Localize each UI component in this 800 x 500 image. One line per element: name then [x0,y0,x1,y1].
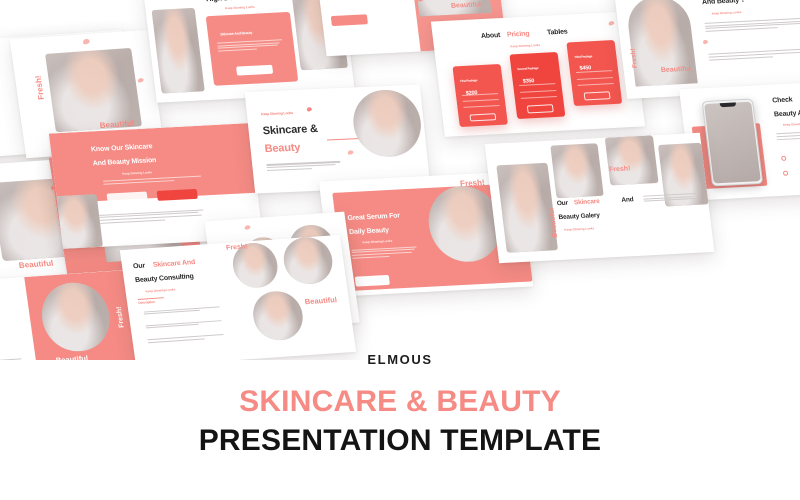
read-more-button[interactable] [331,15,368,27]
slide-subtitle: Keep Glowing Looks [783,122,800,128]
slide-subtitle: Keep Glowing Looks [145,288,175,294]
read-more-button[interactable] [355,275,390,286]
description-label: Description [138,301,155,306]
pricing-card-second[interactable] [509,52,565,119]
title-line-accent: SKINCARE & BEAUTY [0,385,800,419]
slide-title-accent: Skincare [574,198,600,206]
word-beautiful: Beautiful [550,209,560,237]
body-copy [705,18,800,34]
gallery-photo-2 [550,143,604,198]
word-beautiful: Beautiful [18,260,49,270]
bullet-copy-2 [146,320,226,331]
pricing-price-first: $200 [466,91,478,97]
body-copy [266,161,344,172]
slide-title: About [481,32,501,40]
go-research-button-left[interactable] [107,191,148,203]
title-line-main: PRESENTATION TEMPLATE [0,424,800,458]
word-beautiful: Beautiful [451,2,476,10]
slide-title: Our [556,200,568,208]
slide-title: High Dose [205,0,241,3]
consulting-photo-3 [250,290,305,342]
body-copy-second [708,49,800,62]
gallery-photo-3 [605,135,658,185]
slide-beauty-consulting[interactable]: Our Skincare And Beauty Consulting Keep … [120,235,356,360]
slide-subtitle: Keep Glowing Looks [712,10,742,16]
word-fresh: Fresh! [34,75,46,100]
slide-title-second-line: Beauty [264,143,301,156]
bullet-copy-1 [144,306,224,317]
slide-title-second-line: Beauty Consulting [135,273,194,285]
slide-title-second-line: And Beauty ? [702,0,746,7]
bullet-icon-1 [781,155,787,160]
brand-name: ELMOUS [0,352,800,367]
phone-mockup [702,99,764,186]
word-fresh: Fresh! [460,178,486,188]
presentation-mockup-canvas: Hydrating Essence Keep Glowing Looks Fre… [0,0,800,500]
slide-subtitle: Keep Glowing Looks [564,226,594,232]
slide-eyebrow: Keep Glowing Looks [261,112,293,117]
slide-title-accent: Skincare And [153,259,196,269]
slide-title: Check [772,97,793,106]
slide-beauty-gallery[interactable]: Our Skincare And Beauty Galery Keep Glow… [485,133,715,263]
slide-title: Skincare & [262,124,318,138]
slide-title-accent: Serum [249,0,272,1]
slide-title-second-line: Beauty App [774,109,800,118]
slide-title-tail: Tables [547,28,568,37]
go-research-button-right[interactable] [157,188,198,200]
pricing-card-third[interactable] [566,40,622,106]
slide-title: Our [133,263,146,271]
slide-collage: Hydrating Essence Keep Glowing Looks Fre… [0,0,800,360]
slide-subtitle: Keep Glowing Looks [510,43,540,49]
slide-subtitle: Keep Glowing Looks [225,4,255,10]
pricing-card-first[interactable] [452,64,507,126]
slide-title-second-line: Beauty Galery [558,212,600,221]
word-beautiful: Beautiful [661,67,686,75]
consulting-photo-2 [280,236,335,286]
serum-photo-left [151,7,205,93]
model-photo [350,89,424,159]
word-beautiful: Beautiful [304,297,331,306]
word-beautiful: Beautiful [99,120,130,130]
bullet-icon-2 [783,171,789,176]
slide-title-accent: Pricing [507,30,530,39]
word-beautiful: Beautiful [462,263,491,272]
body-copy [776,129,800,141]
pricing-price-second: $350 [523,79,535,85]
branding-block: ELMOUS SKINCARE & BEAUTY PRESENTATION TE… [0,352,800,458]
slide-about-pricing-tables[interactable]: About Pricing Tables Keep Glowing Looks [431,11,645,137]
pricing-price-third: $450 [579,67,591,73]
footer-copy [99,209,208,225]
portrait-photo [37,280,113,353]
bullet-copy-3 [148,334,228,345]
word-fresh: Fresh! [226,244,248,252]
slide-title-tail: And [621,196,634,204]
word-fresh: Fresh! [609,165,631,173]
